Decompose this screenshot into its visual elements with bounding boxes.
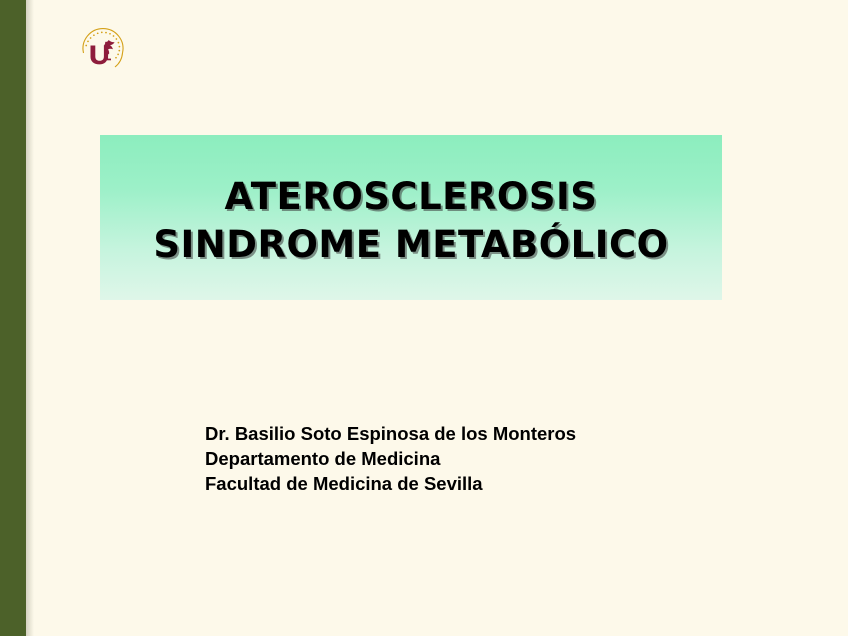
author-affiliation-block: Dr. Basilio Soto Espinosa de los Montero… [205, 421, 705, 496]
slide-title-line-1: ATEROSCLEROSIS [225, 173, 598, 220]
left-band-shadow [26, 0, 34, 636]
left-green-band [0, 0, 26, 636]
presentation-slide: ATEROSCLEROSIS SINDROME METABÓLICO Dr. B… [0, 0, 848, 636]
author-name: Dr. Basilio Soto Espinosa de los Montero… [205, 421, 705, 446]
university-of-seville-seal-icon [77, 23, 129, 75]
title-banner: ATEROSCLEROSIS SINDROME METABÓLICO [100, 135, 722, 300]
author-department: Departamento de Medicina [205, 446, 705, 471]
author-institution: Facultad de Medicina de Sevilla [205, 471, 705, 496]
slide-title-line-2: SINDROME METABÓLICO [153, 221, 668, 268]
